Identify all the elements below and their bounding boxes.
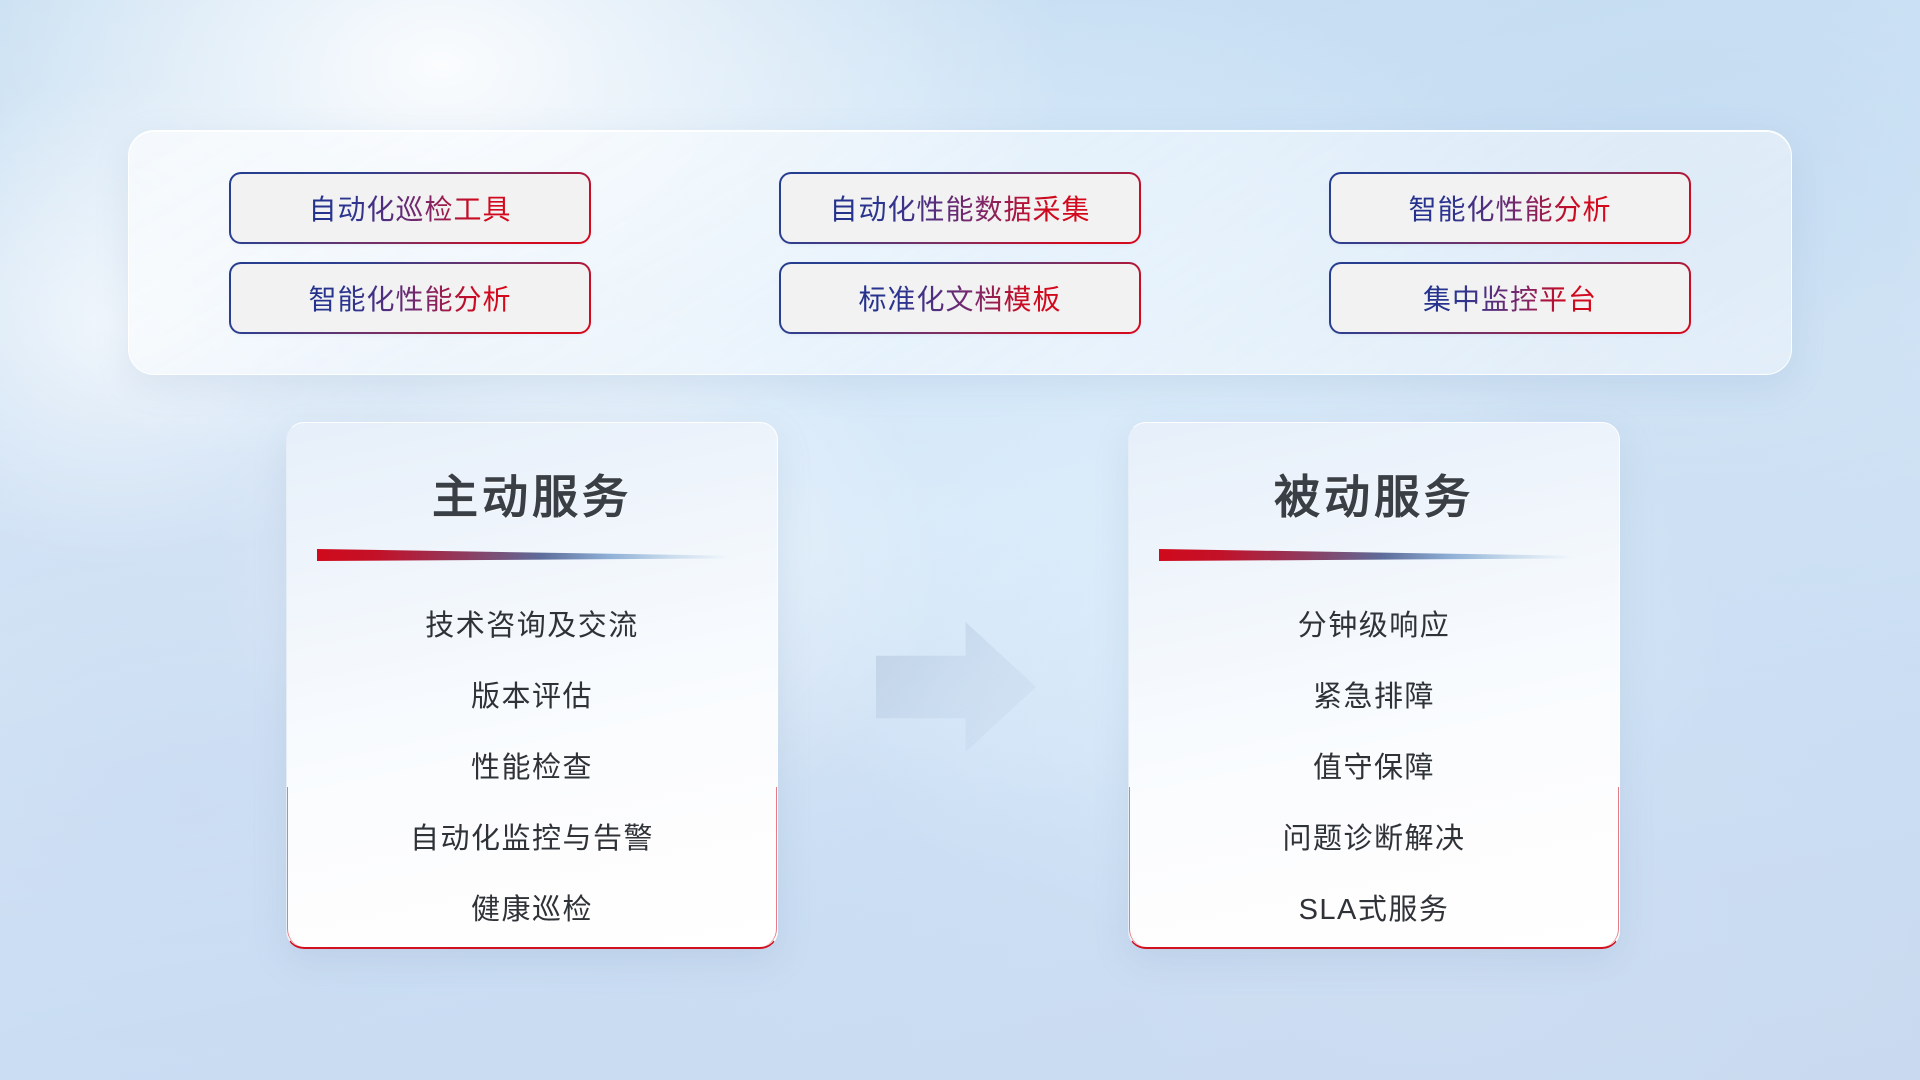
capability-panel: 自动化巡检工具 自动化性能数据采集 智能化性能分析 智能化性能分析 标准化文档模…: [128, 130, 1792, 375]
capability-pill[interactable]: 标准化文档模板: [781, 264, 1139, 332]
divider-bar: [1159, 549, 1589, 561]
capability-row-1: 自动化巡检工具 自动化性能数据采集 智能化性能分析: [129, 174, 1791, 242]
right-arrow-icon: [876, 622, 1036, 752]
list-item: 分钟级响应: [1129, 591, 1619, 662]
service-card-reactive: 被动服务 分钟级响应 紧急排障 值守保障 问题诊断解决 SLA式服务: [1128, 422, 1620, 949]
card-item-list: 技术咨询及交流 版本评估 性能检查 自动化监控与告警 健康巡检: [287, 561, 777, 946]
slide-canvas: 自动化巡检工具 自动化性能数据采集 智能化性能分析 智能化性能分析 标准化文档模…: [0, 0, 1920, 1080]
capability-pill-label: 自动化巡检工具: [308, 188, 511, 228]
capability-pill-label: 集中监控平台: [1423, 278, 1597, 318]
capability-pill[interactable]: 自动化巡检工具: [231, 174, 589, 242]
card-title: 主动服务: [287, 423, 777, 527]
list-item: SLA式服务: [1129, 875, 1619, 946]
capability-pill[interactable]: 集中监控平台: [1331, 264, 1689, 332]
capability-pill-label: 自动化性能数据采集: [829, 188, 1090, 228]
list-item: 自动化监控与告警: [287, 804, 777, 875]
list-item: 问题诊断解决: [1129, 804, 1619, 875]
capability-pill[interactable]: 智能化性能分析: [231, 264, 589, 332]
capability-pill-label: 标准化文档模板: [858, 278, 1061, 318]
list-item: 版本评估: [287, 662, 777, 733]
card-divider: [1159, 549, 1589, 561]
list-item: 健康巡检: [287, 875, 777, 946]
capability-row-2: 智能化性能分析 标准化文档模板 集中监控平台: [129, 264, 1791, 332]
capability-pill[interactable]: 自动化性能数据采集: [781, 174, 1139, 242]
card-divider: [317, 549, 747, 561]
capability-pill[interactable]: 智能化性能分析: [1331, 174, 1689, 242]
card-title: 被动服务: [1129, 423, 1619, 527]
list-item: 紧急排障: [1129, 662, 1619, 733]
card-item-list: 分钟级响应 紧急排障 值守保障 问题诊断解决 SLA式服务: [1129, 561, 1619, 946]
service-card-proactive: 主动服务 技术咨询及交流 版本评估 性能检查 自动化监控与告警 健康巡检: [286, 422, 778, 949]
divider-bar: [317, 549, 747, 561]
list-item: 技术咨询及交流: [287, 591, 777, 662]
capability-pill-label: 智能化性能分析: [308, 278, 511, 318]
capability-pill-label: 智能化性能分析: [1408, 188, 1611, 228]
list-item: 值守保障: [1129, 733, 1619, 804]
list-item: 性能检查: [287, 733, 777, 804]
